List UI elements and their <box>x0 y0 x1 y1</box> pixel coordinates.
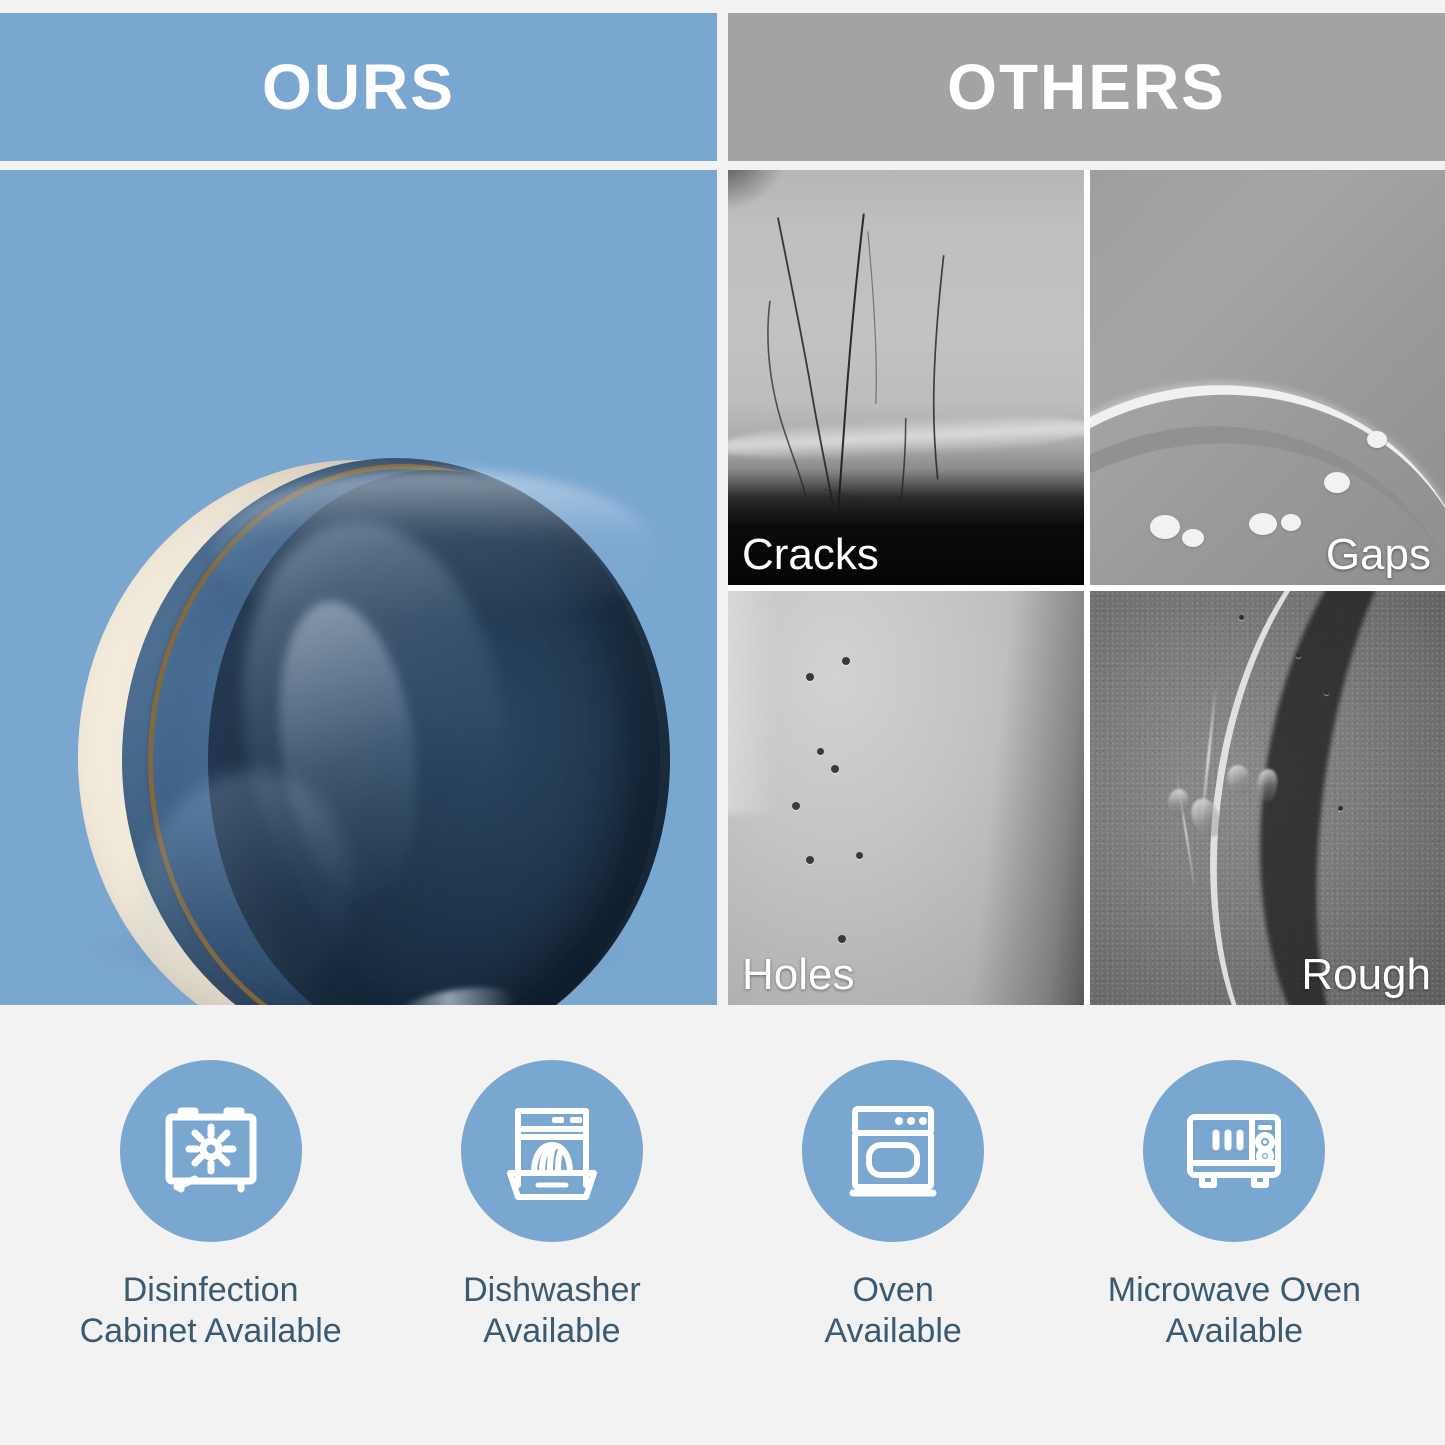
ours-product-panel <box>0 170 717 1005</box>
holes-edge-shadow <box>964 591 1083 1006</box>
glaze-bead <box>1249 513 1277 535</box>
feature-label: Disinfection Cabinet Available <box>80 1270 342 1353</box>
defect-tile-cracks: Cracks <box>728 170 1084 585</box>
defect-tile-rough: Rough <box>1090 591 1445 1006</box>
feature-label: Oven Available <box>824 1270 961 1353</box>
defect-tile-gaps: Gaps <box>1090 170 1445 585</box>
product-comparison-infographic: OURS OTHERS <box>0 0 1445 1445</box>
dishwasher-icon <box>496 1095 608 1207</box>
microwave-oven-icon <box>1178 1095 1290 1207</box>
defect-tile-holes: Holes <box>728 591 1084 1006</box>
pinhole <box>817 748 824 755</box>
defect-label-holes: Holes <box>742 953 855 997</box>
feature-label: Microwave Oven Available <box>1108 1270 1361 1353</box>
defect-label-cracks: Cracks <box>742 533 879 577</box>
surface-speck <box>1296 653 1301 658</box>
feature-icon-circle <box>802 1060 984 1242</box>
pinhole <box>842 657 850 665</box>
pinhole <box>856 852 863 859</box>
oven-icon <box>837 1095 949 1207</box>
defect-label-gaps: Gaps <box>1326 533 1431 577</box>
pinhole <box>792 802 800 810</box>
header-others-label: OTHERS <box>947 55 1226 119</box>
glaze-bead <box>1367 431 1387 448</box>
feature-list: Disinfection Cabinet Available <box>0 1060 1445 1445</box>
feature-icon-circle <box>461 1060 643 1242</box>
defect-label-rough: Rough <box>1301 953 1431 997</box>
pinhole <box>806 673 814 681</box>
feature-label: Dishwasher Available <box>463 1270 641 1353</box>
feature-icon-circle <box>1143 1060 1325 1242</box>
others-defects-panel: Cracks Gaps <box>728 170 1445 1005</box>
glaze-bead <box>1281 514 1301 531</box>
feature-dishwasher[interactable]: Dishwasher Available <box>381 1060 722 1353</box>
header-others: OTHERS <box>728 13 1445 161</box>
feature-disinfection-cabinet[interactable]: Disinfection Cabinet Available <box>40 1060 381 1353</box>
feature-oven[interactable]: Oven Available <box>723 1060 1064 1353</box>
comparison-panels: Cracks Gaps <box>0 170 1445 1005</box>
holes-left-highlight <box>728 591 778 815</box>
pinhole <box>838 935 846 943</box>
crack-lines <box>728 170 1084 585</box>
product-bowl-image <box>0 170 717 1005</box>
feature-icon-circle <box>120 1060 302 1242</box>
pinhole <box>806 856 814 864</box>
glaze-bead <box>1150 515 1180 539</box>
pinhole <box>831 765 839 773</box>
header-ours: OURS <box>0 13 717 161</box>
comparison-headers: OURS OTHERS <box>0 13 1445 161</box>
feature-microwave-oven[interactable]: Microwave Oven Available <box>1064 1060 1405 1353</box>
disinfection-cabinet-icon <box>155 1095 267 1207</box>
header-ours-label: OURS <box>262 55 455 119</box>
